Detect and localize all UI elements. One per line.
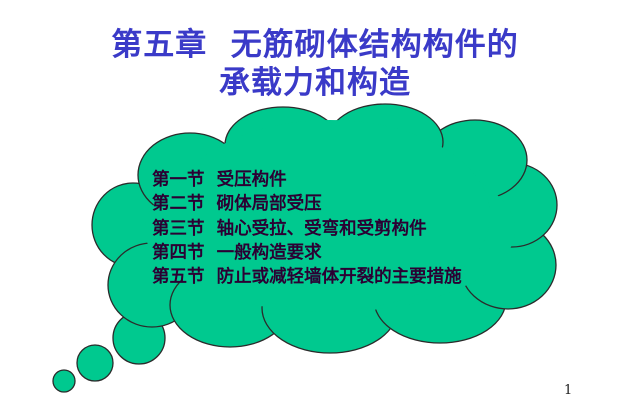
cloud-bubble-medium <box>77 345 113 381</box>
slide-canvas: 第五章 无筋砌体结构构件的 承载力和构造 第一节 受压构件 第二节 砌体局部受压… <box>0 0 630 408</box>
cloud-bubble-small <box>53 370 75 392</box>
page-number: 1 <box>564 383 572 398</box>
contents-item-4: 第四节 一般构造要求 <box>152 241 572 265</box>
contents-item-1: 第一节 受压构件 <box>152 168 572 192</box>
contents-item-5: 第五节 防止或减轻墙体开裂的主要措施 <box>152 265 572 289</box>
contents-item-2: 第二节 砌体局部受压 <box>152 192 572 216</box>
contents-item-3: 第三节 轴心受拉、受弯和受剪构件 <box>152 217 572 241</box>
contents-list: 第一节 受压构件 第二节 砌体局部受压 第三节 轴心受拉、受弯和受剪构件 第四节… <box>152 168 572 289</box>
